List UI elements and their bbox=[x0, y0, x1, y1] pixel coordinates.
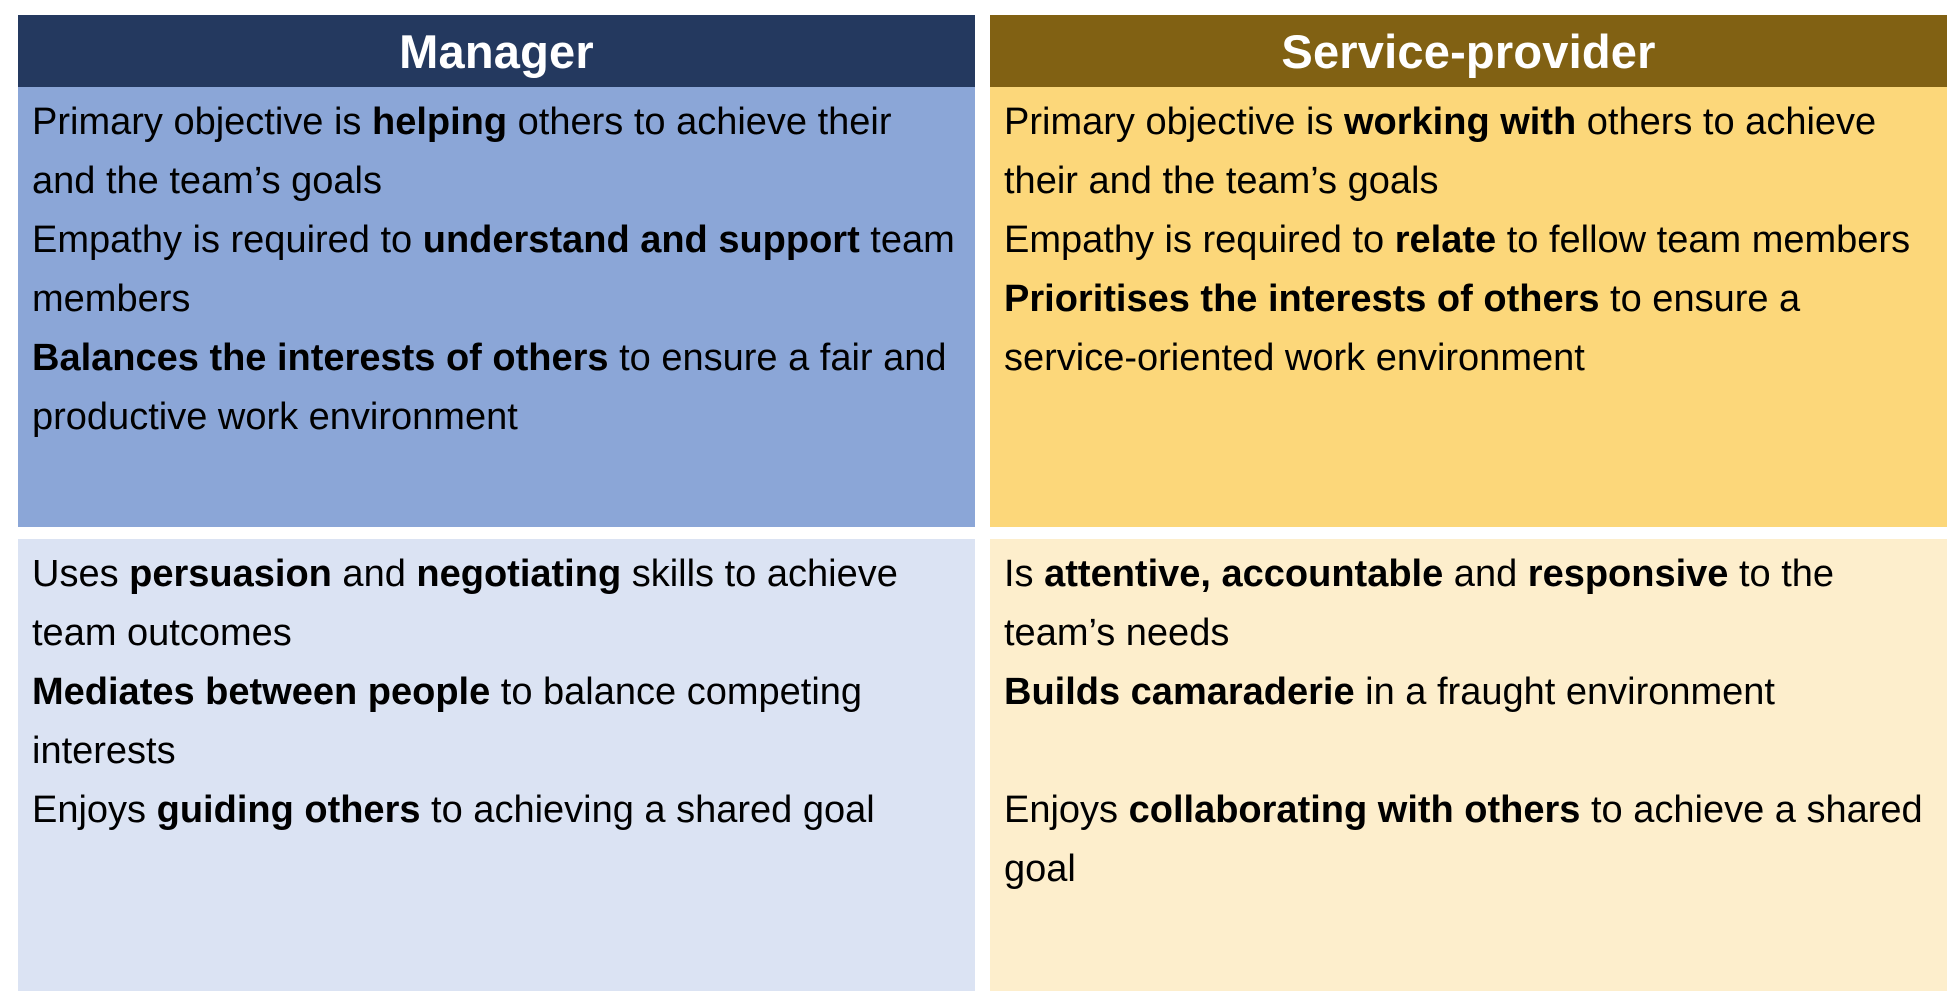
table-row: Primary objective is helping others to a… bbox=[18, 87, 1935, 527]
cell-paragraph: Enjoys collaborating with others to achi… bbox=[1004, 781, 1933, 899]
emphasis-text: Prioritises the interests of others bbox=[1004, 278, 1600, 320]
emphasis-text: Mediates between people bbox=[32, 671, 490, 713]
header-cell-manager: Manager bbox=[18, 15, 975, 87]
column-manager-row2: Uses persuasion and negotiating skills t… bbox=[18, 539, 975, 991]
body-text: to achieving a shared goal bbox=[421, 789, 875, 831]
emphasis-text: working with bbox=[1344, 101, 1576, 143]
body-text: and bbox=[1443, 553, 1528, 595]
cell-paragraph: Mediates between people to balance compe… bbox=[32, 663, 961, 781]
cell-paragraph: Primary objective is working with others… bbox=[1004, 93, 1933, 211]
column-manager-header: Manager bbox=[18, 15, 975, 87]
column-service-provider-row2: Is attentive, accountable and responsive… bbox=[990, 539, 1947, 991]
column-service-provider-header: Service-provider bbox=[990, 15, 1947, 87]
body-text: Primary objective is bbox=[1004, 101, 1344, 143]
cell-paragraph: Primary objective is helping others to a… bbox=[32, 93, 961, 211]
body-text: to fellow team members bbox=[1496, 219, 1910, 261]
cell-service-provider-row2: Is attentive, accountable and responsive… bbox=[990, 539, 1947, 991]
header-cell-service-provider: Service-provider bbox=[990, 15, 1947, 87]
emphasis-text: responsive bbox=[1528, 553, 1729, 595]
cell-paragraph: Prioritises the interests of others to e… bbox=[1004, 270, 1933, 388]
table-header-row: Manager Service-provider bbox=[18, 15, 1935, 87]
body-text: in a fraught environment bbox=[1355, 671, 1775, 713]
column-manager-row1: Primary objective is helping others to a… bbox=[18, 87, 975, 527]
cell-paragraph: Balances the interests of others to ensu… bbox=[32, 329, 961, 447]
cell-paragraph: Is attentive, accountable and responsive… bbox=[1004, 545, 1933, 663]
emphasis-text: Balances the interests of others bbox=[32, 337, 609, 379]
body-text: Enjoys bbox=[32, 789, 157, 831]
emphasis-text: negotiating bbox=[416, 553, 621, 595]
cell-paragraph: Empathy is required to understand and su… bbox=[32, 211, 961, 329]
comparison-table: Manager Service-provider Primary objecti… bbox=[18, 15, 1935, 991]
emphasis-text: attentive, accountable bbox=[1044, 553, 1443, 595]
emphasis-text: collaborating with others bbox=[1129, 789, 1581, 831]
table-row: Uses persuasion and negotiating skills t… bbox=[18, 539, 1935, 991]
cell-paragraph: Uses persuasion and negotiating skills t… bbox=[32, 545, 961, 663]
body-text: Uses bbox=[32, 553, 129, 595]
cell-paragraph: Builds camaraderie in a fraught environm… bbox=[1004, 663, 1933, 722]
emphasis-text: guiding others bbox=[157, 789, 421, 831]
emphasis-text: Builds camaraderie bbox=[1004, 671, 1355, 713]
body-text: Enjoys bbox=[1004, 789, 1129, 831]
body-text: Is bbox=[1004, 553, 1044, 595]
cell-paragraph: Empathy is required to relate to fellow … bbox=[1004, 211, 1933, 270]
emphasis-text: understand and support bbox=[423, 219, 860, 261]
body-text: Empathy is required to bbox=[1004, 219, 1395, 261]
emphasis-text: helping bbox=[372, 101, 507, 143]
column-service-provider-row1: Primary objective is working with others… bbox=[990, 87, 1947, 527]
cell-paragraph: Enjoys guiding others to achieving a sha… bbox=[32, 781, 961, 840]
cell-manager-row2: Uses persuasion and negotiating skills t… bbox=[18, 539, 975, 991]
body-text: and bbox=[332, 553, 417, 595]
cell-manager-row1: Primary objective is helping others to a… bbox=[18, 87, 975, 527]
emphasis-text: relate bbox=[1395, 219, 1496, 261]
emphasis-text: persuasion bbox=[129, 553, 332, 595]
body-text: Primary objective is bbox=[32, 101, 372, 143]
body-text: Empathy is required to bbox=[32, 219, 423, 261]
cell-service-provider-row1: Primary objective is working with others… bbox=[990, 87, 1947, 527]
